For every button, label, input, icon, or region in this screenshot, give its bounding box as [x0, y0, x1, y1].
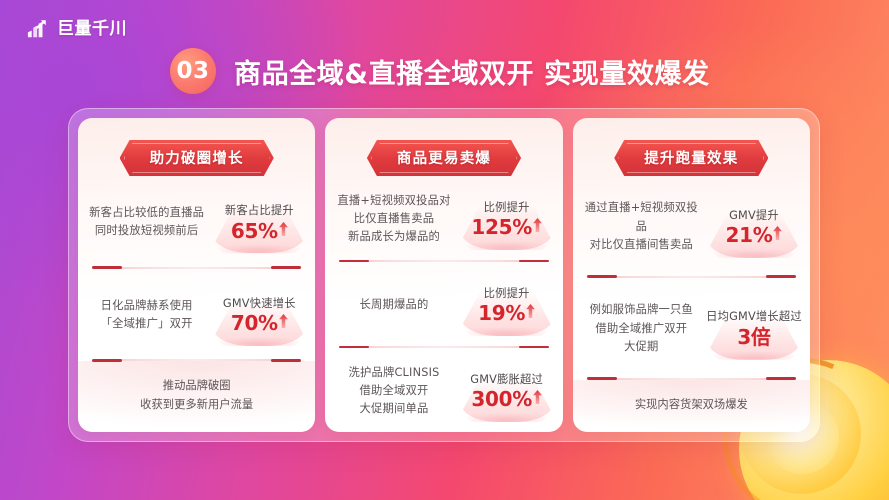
stat-value-line: 3倍	[737, 327, 770, 347]
stat-value: 3倍	[737, 327, 770, 347]
stat-label: 新客占比提升	[225, 204, 294, 219]
stat-value-line: 21%	[725, 225, 782, 245]
stat-value-line: 70%	[231, 313, 288, 333]
stat-value-line: 300%	[471, 389, 542, 409]
row-description: 洗护品牌CLINSIS借助全域双开大促期间单品	[333, 364, 454, 419]
card-footer: 推动品牌破圈收获到更多新用户流量	[78, 361, 315, 432]
section-number: 03	[176, 58, 209, 84]
page-title-row: 03 商品全域&直播全域双开 实现量效爆发	[170, 48, 710, 94]
card-rows: 新客占比较低的直播品同时投放短视频前后新客占比提升65%日化品牌赫系使用「全域推…	[78, 176, 315, 359]
card-rows: 直播+短视频双投品对比仅直播售卖品新品成长为爆品的比例提升125%长周期爆品的比…	[325, 176, 562, 432]
stat-value-line: 19%	[478, 303, 535, 323]
card-pill-title: 助力破圈增长	[120, 140, 274, 176]
text-line: 收获到更多新用户流量	[140, 398, 253, 411]
stat-value-line: 65%	[231, 221, 288, 241]
text-line: 长周期爆品的	[360, 298, 429, 311]
text-line: 实现内容货架双场爆发	[635, 398, 748, 411]
card-row: 例如服饰品牌一只鱼借助全域推广双开大促期日均GMV增长超过3倍	[573, 278, 810, 378]
brand-logo: 巨量千川	[25, 17, 127, 42]
row-description: 长周期爆品的	[333, 296, 454, 314]
slide-canvas: 巨量千川 03 商品全域&直播全域双开 实现量效爆发 助力破圈增长新客占比较低的…	[0, 0, 889, 500]
arrow-up-icon	[526, 304, 535, 318]
footer-divider	[587, 378, 796, 380]
stat-value-line: 125%	[471, 217, 542, 237]
stat-label: GMV提升	[729, 209, 779, 224]
cards-container: 助力破圈增长新客占比较低的直播品同时投放短视频前后新客占比提升65%日化品牌赫系…	[78, 118, 810, 432]
stat-pedestal: 日均GMV增长超过3倍	[706, 297, 802, 361]
row-description: 新客占比较低的直播品同时投放短视频前后	[86, 204, 207, 241]
feature-card[interactable]: 提升跑量效果通过直播+短视频双投品对比仅直播间售卖品GMV提升21%例如服饰品牌…	[573, 118, 810, 432]
card-row: 日化品牌赫系使用「全域推广」双开GMV快速增长70%	[78, 269, 315, 360]
card-row: 长周期爆品的比例提升19%	[325, 262, 562, 346]
card-row: 新客占比较低的直播品同时投放短视频前后新客占比提升65%	[78, 176, 315, 267]
footer-divider	[92, 359, 301, 361]
stat-label: GMV膨胀超过	[470, 373, 543, 388]
stat-pedestal: GMV提升21%	[706, 195, 802, 259]
cards-panel: 助力破圈增长新客占比较低的直播品同时投放短视频前后新客占比提升65%日化品牌赫系…	[68, 108, 820, 442]
text-line: 同时投放短视频前后	[95, 224, 198, 237]
card-footer: 实现内容货架双场爆发	[573, 380, 810, 432]
stat-value: 70%	[231, 313, 278, 333]
section-number-badge: 03	[170, 48, 216, 94]
stat-value: 65%	[231, 221, 278, 241]
card-row: 直播+短视频双投品对比仅直播售卖品新品成长为爆品的比例提升125%	[325, 176, 562, 260]
stat-value: 300%	[471, 389, 532, 409]
feature-card[interactable]: 助力破圈增长新客占比较低的直播品同时投放短视频前后新客占比提升65%日化品牌赫系…	[78, 118, 315, 432]
stat-label: GMV快速增长	[223, 297, 296, 312]
card-rows: 通过直播+短视频双投品对比仅直播间售卖品GMV提升21%例如服饰品牌一只鱼借助全…	[573, 176, 810, 378]
stat-value: 21%	[725, 225, 772, 245]
text-line: 比仅直播售卖品	[354, 212, 434, 225]
stat-label: 比例提升	[484, 201, 530, 216]
stat-pedestal: GMV快速增长70%	[211, 283, 307, 347]
card-row: 洗护品牌CLINSIS借助全域双开大促期间单品GMV膨胀超过300%	[325, 348, 562, 432]
arrow-up-icon	[533, 218, 542, 232]
row-description: 直播+短视频双投品对比仅直播售卖品新品成长为爆品的	[333, 192, 454, 247]
text-line: 「全域推广」双开	[101, 317, 193, 330]
text-line: 借助全域推广双开	[595, 322, 687, 335]
text-line: 新客占比较低的直播品	[89, 206, 204, 219]
row-description: 例如服饰品牌一只鱼借助全域推广双开大促期	[581, 301, 702, 356]
page-title: 商品全域&直播全域双开 实现量效爆发	[234, 52, 710, 91]
stat-pedestal: GMV膨胀超过300%	[459, 359, 555, 423]
brand-name: 巨量千川	[57, 21, 127, 38]
row-description: 通过直播+短视频双投品对比仅直播间售卖品	[581, 199, 702, 254]
text-line: 例如服饰品牌一只鱼	[590, 303, 693, 316]
text-line: 洗护品牌CLINSIS	[348, 366, 439, 379]
text-line: 日化品牌赫系使用	[101, 299, 193, 312]
stat-label: 比例提升	[484, 287, 530, 302]
feature-card[interactable]: 商品更易卖爆直播+短视频双投品对比仅直播售卖品新品成长为爆品的比例提升125%长…	[325, 118, 562, 432]
text-line: 借助全域双开	[360, 384, 429, 397]
text-line: 推动品牌破圈	[163, 379, 231, 392]
text-line: 通过直播+短视频双投品	[585, 201, 698, 232]
stat-value: 19%	[478, 303, 525, 323]
text-line: 直播+短视频双投品对	[337, 194, 450, 207]
text-line: 大促期	[624, 340, 659, 353]
text-line: 大促期间单品	[360, 402, 429, 415]
arrow-up-icon	[279, 222, 288, 236]
card-row: 通过直播+短视频双投品对比仅直播间售卖品GMV提升21%	[573, 176, 810, 276]
card-pill-title: 商品更易卖爆	[367, 140, 521, 176]
text-line: 对比仅直播间售卖品	[590, 238, 693, 251]
stat-pedestal: 比例提升125%	[459, 187, 555, 251]
arrow-up-icon	[533, 390, 542, 404]
arrow-up-icon	[773, 226, 782, 240]
row-description: 日化品牌赫系使用「全域推广」双开	[86, 297, 207, 334]
bar-chart-arrow-icon	[25, 17, 50, 42]
arrow-up-icon	[279, 314, 288, 328]
stat-label: 日均GMV增长超过	[706, 310, 802, 325]
text-line: 新品成长为爆品的	[348, 230, 440, 243]
stat-pedestal: 比例提升19%	[459, 273, 555, 337]
card-pill-title: 提升跑量效果	[614, 140, 768, 176]
stat-pedestal: 新客占比提升65%	[211, 190, 307, 254]
stat-value: 125%	[471, 217, 532, 237]
